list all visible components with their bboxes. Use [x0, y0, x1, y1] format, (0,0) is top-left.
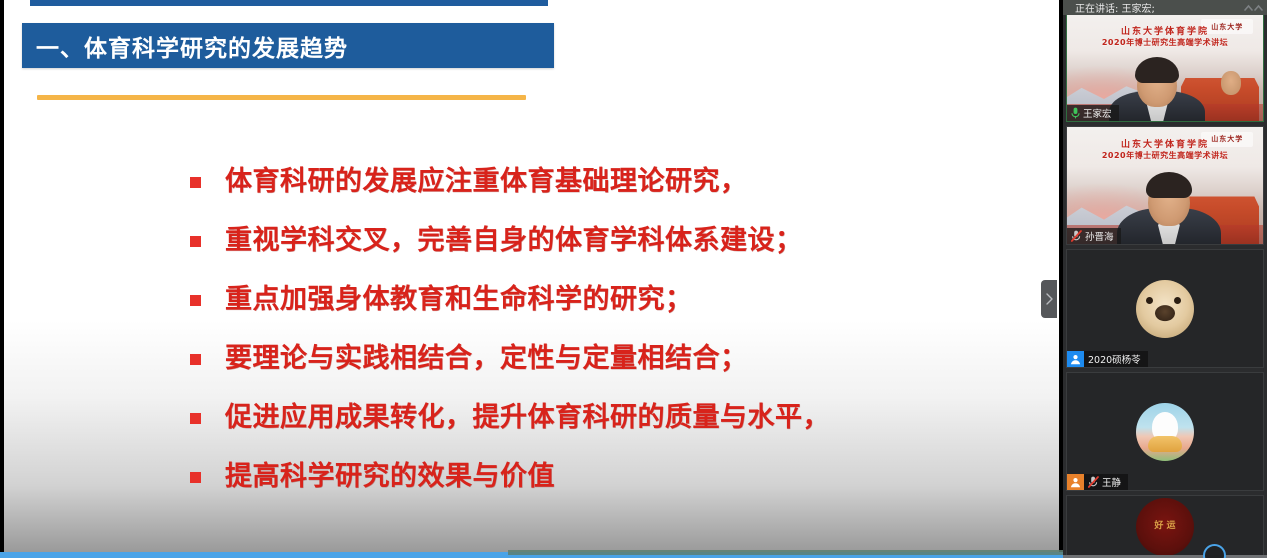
bullet-item: 提高科学研究的效果与价值 [190, 460, 1019, 494]
bullet-item: 要理论与实践相结合，定性与定量相结合； [190, 342, 1019, 376]
avatar-container [1067, 373, 1263, 490]
avatar-container [1067, 250, 1263, 367]
bullet-square-icon [190, 295, 201, 306]
participant-name: 2020硕杨苓 [1088, 352, 1141, 366]
bullet-text: 提高科学研究的效果与价值 [225, 460, 555, 494]
bullet-text: 促进应用成果转化，提升体育科研的质量与水平， [225, 401, 830, 435]
video-banner-line2: 2020年博士研究生高端学术讲坛 [1067, 38, 1263, 49]
participant-tile[interactable]: 山东大学 山东大学体育学院 2020年博士研究生高端学术讲坛 [1066, 126, 1264, 245]
active-speaker-label: 正在讲话: 王家宏; [1075, 0, 1155, 15]
slide-heading-text: 一、体育科学研究的发展趋势 [36, 29, 348, 63]
participant-name-bar: 王家宏 [1067, 105, 1119, 121]
bullet-square-icon [190, 354, 201, 365]
slide-heading-band: 一、体育科学研究的发展趋势 [22, 23, 554, 68]
avatar [1136, 403, 1194, 461]
video-banner-text: 山东大学体育学院 2020年博士研究生高端学术讲坛 [1067, 139, 1263, 162]
chevron-up-icon [1254, 3, 1263, 13]
avatar-glyph: 好 运 [1154, 522, 1175, 532]
slide-bullet-list: 体育科研的发展应注重体育基础理论研究， 重视学科交叉，完善自身的体育学科体系建设… [190, 165, 1019, 494]
video-banner-line1: 山东大学体育学院 [1067, 26, 1263, 38]
participant-name-chip: 王家宏 [1067, 105, 1119, 121]
person-badge-icon [1067, 351, 1084, 367]
person-icon [1070, 354, 1081, 365]
avatar [1136, 280, 1194, 338]
bullet-item: 重点加强身体教育和生命科学的研究； [190, 283, 1019, 317]
video-banner-text: 山东大学体育学院 2020年博士研究生高端学术讲坛 [1067, 26, 1263, 49]
bullet-text: 要理论与实践相结合，定性与定量相结合； [225, 342, 748, 376]
bullet-square-icon [190, 177, 201, 188]
bullet-text: 重视学科交叉，完善自身的体育学科体系建设； [225, 224, 803, 258]
participant-name-chip: 王静 [1084, 474, 1128, 490]
bullet-item: 重视学科交叉，完善自身的体育学科体系建设； [190, 224, 1019, 258]
person-icon [1070, 477, 1081, 488]
video-feed: 山东大学 山东大学体育学院 2020年博士研究生高端学术讲坛 [1067, 127, 1263, 244]
mic-muted-icon [1071, 230, 1082, 242]
bullet-square-icon [190, 413, 201, 424]
bullet-item: 促进应用成果转化，提升体育科研的质量与水平， [190, 401, 1019, 435]
person-badge-icon [1067, 474, 1084, 490]
video-banner-line1: 山东大学体育学院 [1067, 139, 1263, 151]
participant-tile[interactable]: 山东大学 山东大学体育学院 2020年博士研究生高端学术讲坛 [1066, 14, 1264, 122]
bullet-text: 重点加强身体教育和生命科学的研究； [225, 283, 693, 317]
bullet-square-icon [190, 472, 201, 483]
participant-tile[interactable]: 好 运 [1066, 495, 1264, 558]
participant-sidebar: 正在讲话: 王家宏; 山东大学 山东大学体育学院 2020年博士 [1063, 0, 1267, 558]
bullet-item: 体育科研的发展应注重体育基础理论研究， [190, 165, 1019, 199]
participant-tile[interactable]: 王静 [1066, 372, 1264, 491]
chevron-right-icon [1046, 293, 1053, 305]
participant-name-bar: 2020硕杨苓 [1067, 351, 1148, 367]
silhouette-hand [1221, 71, 1241, 95]
mic-muted-icon [1088, 476, 1099, 488]
slide-top-strip [30, 0, 548, 6]
collapse-sidebar-button[interactable] [1041, 280, 1057, 318]
meeting-window: 一、体育科学研究的发展趋势 体育科研的发展应注重体育基础理论研究， 重视学科交叉… [0, 0, 1267, 558]
video-banner-line2: 2020年博士研究生高端学术讲坛 [1067, 151, 1263, 162]
shared-screen-area: 一、体育科学研究的发展趋势 体育科研的发展应注重体育基础理论研究， 重视学科交叉… [0, 0, 1063, 558]
participant-name-chip: 孙晋海 [1067, 228, 1121, 244]
bullet-text: 体育科研的发展应注重体育基础理论研究， [225, 165, 748, 199]
participant-name: 王静 [1102, 475, 1121, 489]
sidebar-scroll-chevrons[interactable] [1244, 0, 1263, 15]
chevron-up-icon [1244, 3, 1253, 13]
bullet-square-icon [190, 236, 201, 247]
participant-tile[interactable]: 2020硕杨苓 [1066, 249, 1264, 368]
share-progress-bar[interactable] [0, 552, 1063, 558]
avatar-container: 好 运 [1067, 496, 1263, 557]
mic-on-icon [1071, 107, 1080, 119]
participant-name-bar: 王静 [1067, 474, 1128, 490]
avatar: 好 运 [1136, 498, 1194, 556]
participant-name-bar: 孙晋海 [1067, 228, 1121, 244]
presentation-slide: 一、体育科学研究的发展趋势 体育科研的发展应注重体育基础理论研究， 重视学科交叉… [4, 0, 1059, 552]
share-progress-segment [508, 550, 1063, 555]
participant-name-chip: 2020硕杨苓 [1084, 351, 1148, 367]
participant-name: 孙晋海 [1085, 229, 1114, 243]
active-speaker-banner: 正在讲话: 王家宏; [1063, 0, 1267, 15]
participant-name: 王家宏 [1083, 106, 1112, 120]
slide-orange-divider [37, 95, 526, 100]
